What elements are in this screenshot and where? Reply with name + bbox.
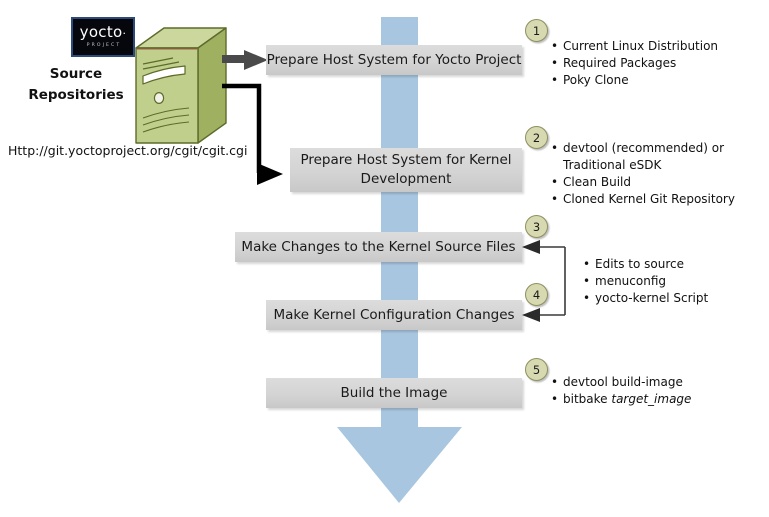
note-text: devtool build-image bbox=[563, 375, 683, 389]
note-text: Edits to source bbox=[595, 257, 684, 271]
step-box-make-kernel-config-changes[interactable]: Make Kernel Configuration Changes bbox=[266, 300, 522, 330]
step-box-label: Build the Image bbox=[341, 384, 448, 403]
step-badge-4: 4 bbox=[525, 283, 548, 306]
note-text: yocto-kernel Script bbox=[595, 291, 708, 305]
note-item: Required Packages bbox=[551, 55, 766, 72]
step-badge-number: 5 bbox=[533, 363, 540, 377]
step-3-and-4-notes: Edits to sourcemenuconfigyocto-kernel Sc… bbox=[583, 256, 763, 307]
step-badge-2: 2 bbox=[525, 126, 548, 149]
yocto-kernel-development-flow-diagram: yocto· PROJECT Source Repositories Http:… bbox=[0, 0, 769, 517]
step-box-label: Prepare Host System for Kernel Developme… bbox=[290, 151, 522, 189]
note-item: menuconfig bbox=[583, 273, 763, 290]
note-text: Current Linux Distribution bbox=[563, 39, 718, 53]
note-text: Required Packages bbox=[563, 56, 676, 70]
note-item: devtool build-image bbox=[551, 374, 766, 391]
step-box-build-the-image[interactable]: Build the Image bbox=[266, 378, 522, 408]
step-box-label: Make Changes to the Kernel Source Files bbox=[241, 238, 515, 257]
note-text: Poky Clone bbox=[563, 73, 629, 87]
note-item: devtool (recommended) or Traditional eSD… bbox=[551, 140, 766, 174]
note-text: Cloned Kernel Git Repository bbox=[563, 192, 735, 206]
step-badge-number: 1 bbox=[533, 24, 540, 38]
note-item: Current Linux Distribution bbox=[551, 38, 766, 55]
step-2-notes: devtool (recommended) or Traditional eSD… bbox=[551, 140, 766, 208]
note-text: bitbake bbox=[563, 392, 611, 406]
note-text: devtool (recommended) or Traditional eSD… bbox=[563, 141, 724, 172]
step-5-notes: devtool build-imagebitbake target_image bbox=[551, 374, 766, 408]
step-badge-1: 1 bbox=[525, 19, 548, 42]
note-text-emphasis: target_image bbox=[611, 392, 691, 406]
step-box-make-kernel-source-changes[interactable]: Make Changes to the Kernel Source Files bbox=[235, 232, 522, 262]
step-box-prepare-host-yocto[interactable]: Prepare Host System for Yocto Project bbox=[266, 45, 522, 75]
step-badge-3: 3 bbox=[525, 215, 548, 238]
note-item: Poky Clone bbox=[551, 72, 766, 89]
step-badge-number: 2 bbox=[533, 131, 540, 145]
step-badge-number: 3 bbox=[533, 220, 540, 234]
step-badge-number: 4 bbox=[533, 288, 540, 302]
step-box-label: Prepare Host System for Yocto Project bbox=[267, 51, 522, 70]
note-item: Edits to source bbox=[583, 256, 763, 273]
note-item: bitbake target_image bbox=[551, 391, 766, 408]
step-box-prepare-host-kernel[interactable]: Prepare Host System for Kernel Developme… bbox=[290, 148, 522, 192]
step-badge-5: 5 bbox=[525, 358, 548, 381]
note-text: Clean Build bbox=[563, 175, 631, 189]
note-item: Cloned Kernel Git Repository bbox=[551, 191, 766, 208]
step-box-label: Make Kernel Configuration Changes bbox=[273, 306, 514, 325]
note-text: menuconfig bbox=[595, 274, 666, 288]
step-1-notes: Current Linux DistributionRequired Packa… bbox=[551, 38, 766, 89]
note-item: Clean Build bbox=[551, 174, 766, 191]
note-item: yocto-kernel Script bbox=[583, 290, 763, 307]
